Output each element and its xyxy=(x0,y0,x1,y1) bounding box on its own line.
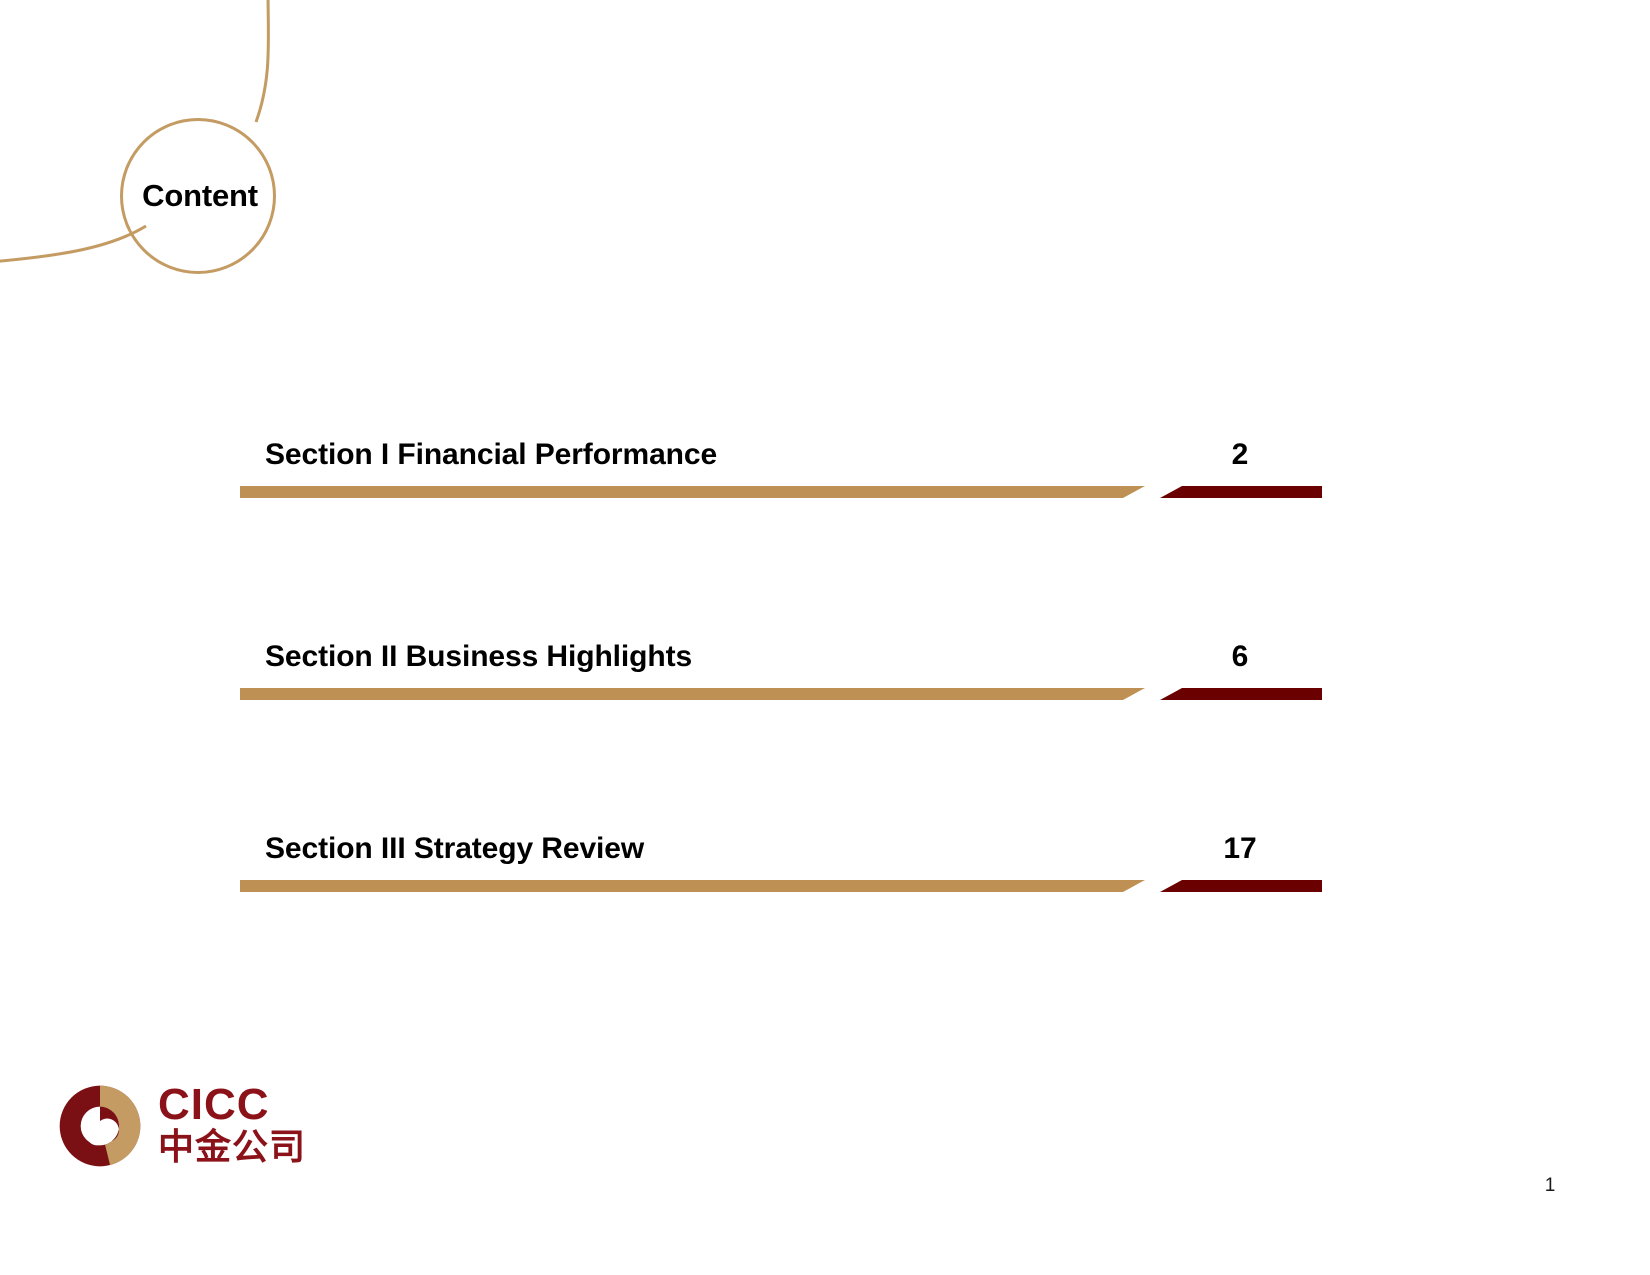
content-badge: Content xyxy=(120,118,276,274)
cicc-logo-mark-icon xyxy=(58,1084,142,1168)
toc-rule-red-3 xyxy=(1160,880,1322,892)
page-title: Content xyxy=(142,178,258,214)
toc-row-section-2[interactable]: Section II Business Highlights 6 xyxy=(0,640,1650,720)
cicc-wordmark-chinese: 中金公司 xyxy=(158,1128,378,1168)
toc-rule-gold-2 xyxy=(240,688,1145,700)
toc-page-section-2: 6 xyxy=(1160,640,1320,674)
cicc-wordmark-latin: CICC xyxy=(158,1082,378,1128)
toc-page-section-1: 2 xyxy=(1160,438,1320,472)
toc-row-section-1[interactable]: Section I Financial Performance 2 xyxy=(0,438,1650,518)
cicc-wordmark: CICC 中金公司 xyxy=(158,1082,378,1172)
toc-rule-gold-1 xyxy=(240,486,1145,498)
slide-page-number: 1 xyxy=(1520,1175,1580,1197)
curve-left-tail xyxy=(0,226,146,262)
toc-rule-red-2 xyxy=(1160,688,1322,700)
cicc-logo: CICC 中金公司 xyxy=(58,1078,378,1174)
curve-top-tail xyxy=(256,0,268,122)
toc-title-section-1[interactable]: Section I Financial Performance xyxy=(265,438,717,472)
toc-title-section-3[interactable]: Section III Strategy Review xyxy=(265,832,644,866)
toc-title-section-2[interactable]: Section II Business Highlights xyxy=(265,640,692,674)
toc-rule-gold-3 xyxy=(240,880,1145,892)
toc-page-section-3: 17 xyxy=(1160,832,1320,866)
toc-row-section-3[interactable]: Section III Strategy Review 17 xyxy=(0,832,1650,912)
slide-canvas: Content Section I Financial Performance … xyxy=(0,0,1650,1275)
toc-rule-red-1 xyxy=(1160,486,1322,498)
